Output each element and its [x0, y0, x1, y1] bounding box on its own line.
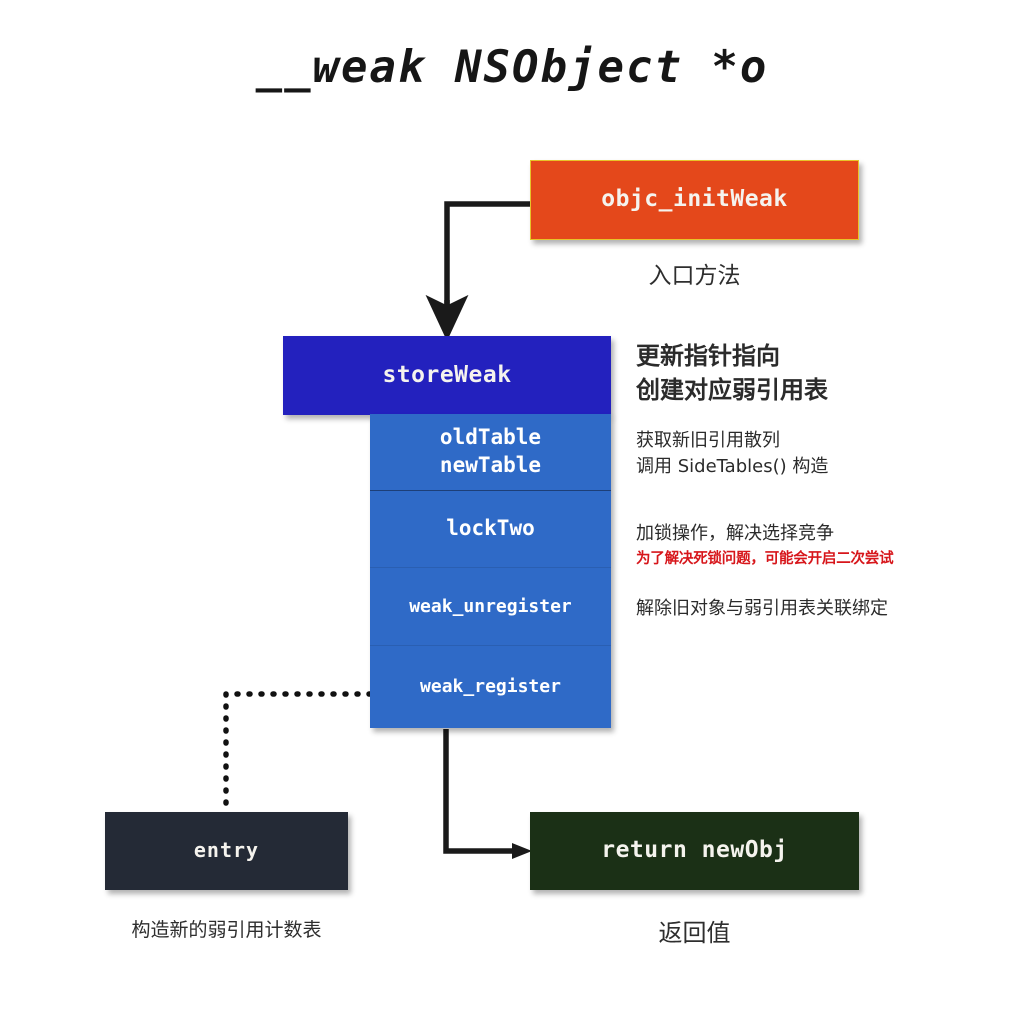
caption-return-newobj: 返回值	[530, 913, 859, 948]
annotation-lock-two: 加锁操作，解决选择竞争	[636, 521, 834, 547]
arrowhead-storeweak	[440, 316, 454, 336]
node-weak-register[interactable]: weak_register	[370, 646, 611, 728]
diagram-canvas: __weak NSObject *o objc_initWeak 入口方法 st…	[0, 0, 1024, 1024]
node-lock-two[interactable]: lockTwo	[370, 491, 611, 568]
annotation-old-new-table: 获取新旧引用散列 调用 SideTables() 构造	[636, 428, 828, 479]
caption-objc-initweak: 入口方法	[530, 256, 859, 290]
annotation-lock-two-warning: 为了解决死锁问题，可能会开启二次尝试	[636, 549, 893, 570]
arrow-register-to-return	[446, 729, 516, 851]
node-objc-initweak[interactable]: objc_initWeak	[530, 160, 859, 240]
arrowhead-return	[512, 843, 532, 859]
node-storeweak[interactable]: storeWeak	[283, 336, 611, 415]
node-weak-unregister[interactable]: weak_unregister	[370, 568, 611, 646]
annotation-storeweak: 更新指针指向 创建对应弱引用表	[636, 339, 828, 407]
node-old-new-table[interactable]: oldTable newTable	[370, 414, 611, 491]
node-entry[interactable]: entry	[105, 812, 348, 890]
storeweak-substeps: oldTable newTable lockTwo weak_unregiste…	[370, 414, 611, 728]
node-return-newobj[interactable]: return newObj	[530, 812, 859, 890]
arrow-init-to-storeweak	[447, 204, 530, 318]
annotation-weak-unregister: 解除旧对象与弱引用表关联绑定	[636, 596, 888, 622]
dotted-register-to-entry	[226, 694, 370, 812]
caption-entry: 构造新的弱引用计数表	[80, 915, 373, 942]
